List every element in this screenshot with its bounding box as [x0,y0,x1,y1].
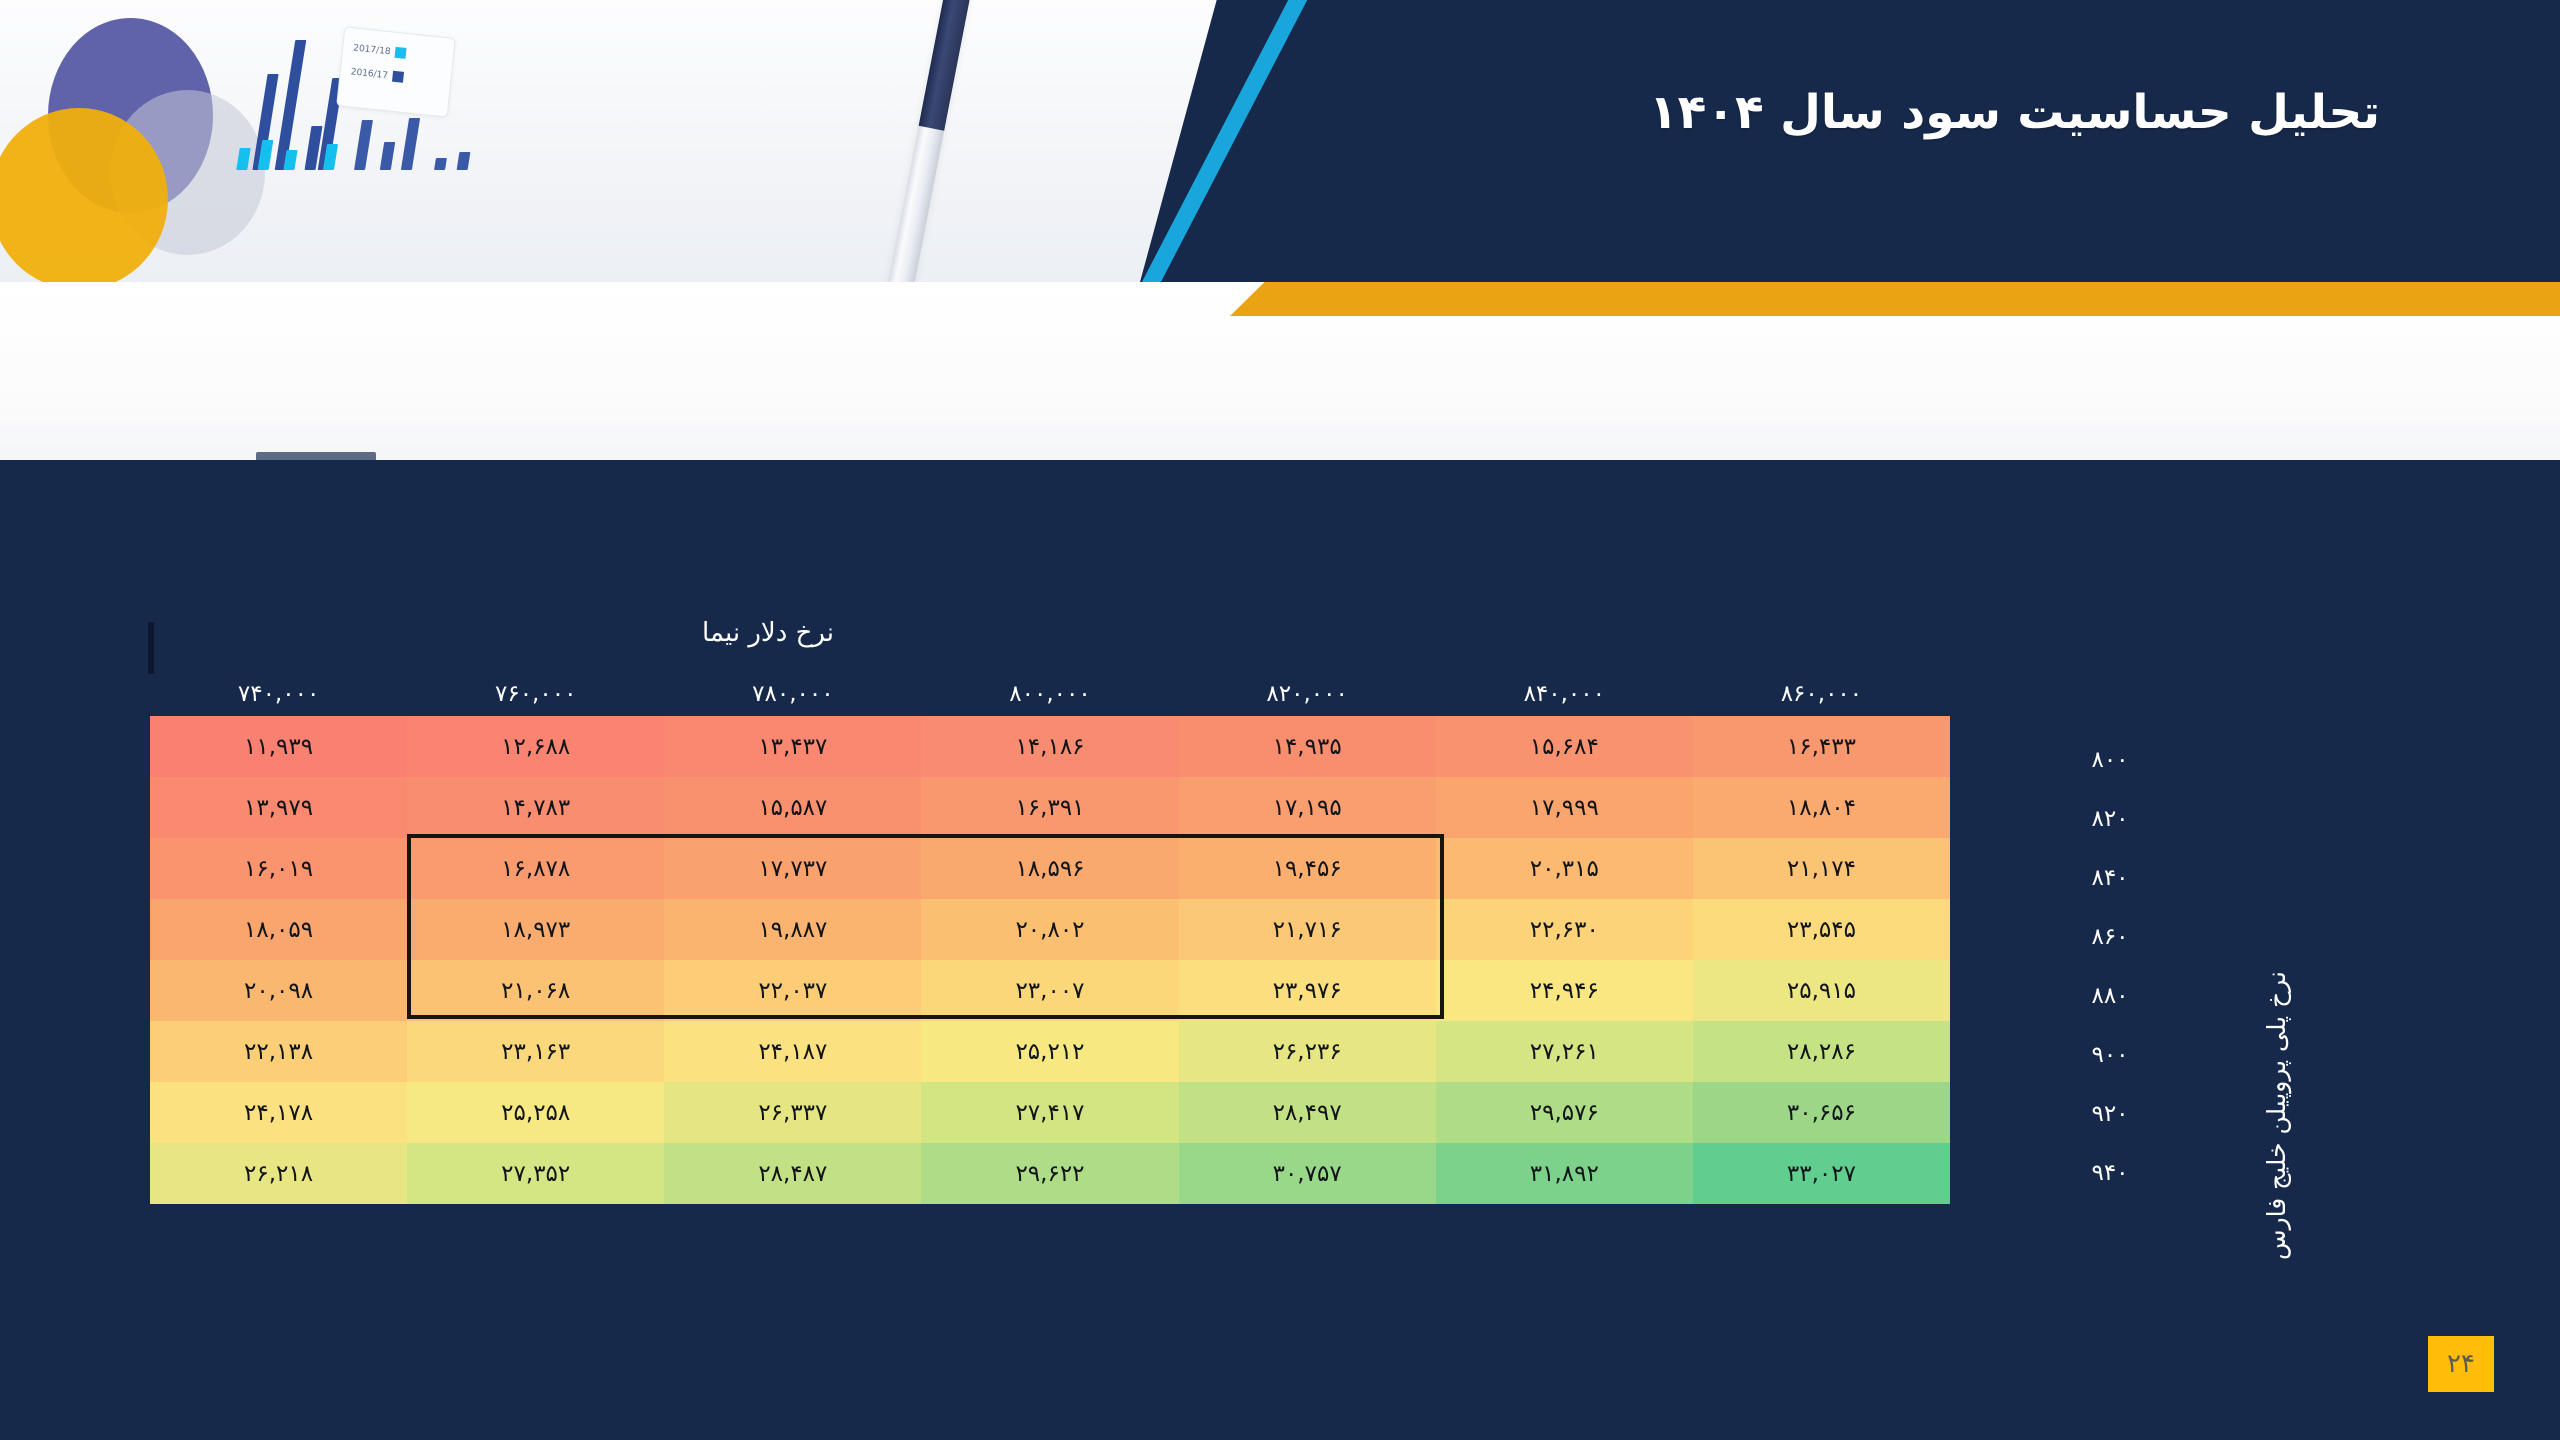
heatmap-cell: ۲۸,۴۸۷ [664,1143,921,1204]
column-header-4: ۷۸۰,۰۰۰ [664,681,921,707]
row-header-2: ۸۴۰ [2050,849,2170,908]
heatmap-cell: ۲۰,۰۹۸ [150,960,407,1021]
column-header-row: ۸۶۰,۰۰۰۸۴۰,۰۰۰۸۲۰,۰۰۰۸۰۰,۰۰۰۷۸۰,۰۰۰۷۶۰,۰… [150,672,1950,716]
heatmap-cell: ۱۴,۱۸۶ [921,716,1178,777]
table-row: ۲۸,۲۸۶۲۷,۲۶۱۲۶,۲۳۶۲۵,۲۱۲۲۴,۱۸۷۲۳,۱۶۳۲۲,۱… [150,1021,1950,1082]
heatmap-cell: ۲۷,۲۶۱ [1436,1021,1693,1082]
legend-swatch-series-2 [392,71,404,83]
heatmap-cell: ۱۹,۴۵۶ [1179,838,1436,899]
heatmap-cell: ۱۴,۷۸۳ [407,777,664,838]
legend-label-series-1: 2017/18 [353,43,391,57]
row-header-1: ۸۲۰ [2050,790,2170,849]
heatmap-cell: ۲۵,۲۱۲ [921,1021,1178,1082]
heatmap-cell: ۱۵,۵۸۷ [664,777,921,838]
heatmap-cell: ۲۲,۰۳۷ [664,960,921,1021]
header-gold-stripe [1230,282,2560,316]
heatmap-cell: ۲۵,۲۵۸ [407,1082,664,1143]
row-header-4: ۸۸۰ [2050,967,2170,1026]
heatmap-cell: ۲۶,۲۱۸ [150,1143,407,1204]
header-small-tab [256,452,376,460]
heatmap-cell: ۲۷,۴۱۷ [921,1082,1178,1143]
heatmap-cell: ۲۱,۷۱۶ [1179,899,1436,960]
heatmap-cell: ۱۸,۵۹۶ [921,838,1178,899]
slide-header: 2017/18 2016/17 تحلیل حساسیت سود سال ۱۴۰… [0,0,2560,460]
heatmap-cell: ۲۲,۶۳۰ [1436,899,1693,960]
column-header-2: ۸۲۰,۰۰۰ [1179,681,1436,707]
heatmap-cell: ۲۹,۶۲۲ [921,1143,1178,1204]
heatmap-cell: ۱۴,۹۳۵ [1179,716,1436,777]
row-header-0: ۸۰۰ [2050,731,2170,790]
row-header-7: ۹۴۰ [2050,1144,2170,1203]
heatmap-cell: ۱۶,۳۹۱ [921,777,1178,838]
legend-swatch-series-1 [395,47,407,59]
table-row: ۱۸,۸۰۴۱۷,۹۹۹۱۷,۱۹۵۱۶,۳۹۱۱۵,۵۸۷۱۴,۷۸۳۱۳,۹… [150,777,1950,838]
heatmap-cell: ۲۶,۳۳۷ [664,1082,921,1143]
table-row: ۱۶,۴۳۳۱۵,۶۸۴۱۴,۹۳۵۱۴,۱۸۶۱۳,۴۳۷۱۲,۶۸۸۱۱,۹… [150,716,1950,777]
heatmap-cell: ۱۶,۸۷۸ [407,838,664,899]
column-header-3: ۸۰۰,۰۰۰ [921,681,1178,707]
heatmap-cell: ۱۷,۱۹۵ [1179,777,1436,838]
heatmap-cell: ۲۸,۲۸۶ [1693,1021,1950,1082]
row-header-6: ۹۲۰ [2050,1085,2170,1144]
heatmap-cell: ۳۳,۰۲۷ [1693,1143,1950,1204]
heatmap-cell: ۲۳,۵۴۵ [1693,899,1950,960]
heatmap-cell: ۱۶,۴۳۳ [1693,716,1950,777]
row-header-column: ۸۰۰۸۲۰۸۴۰۸۶۰۸۸۰۹۰۰۹۲۰۹۴۰ [2050,672,2170,790]
heatmap-cell: ۱۷,۷۳۷ [664,838,921,899]
heatmap-cell: ۲۴,۱۸۷ [664,1021,921,1082]
column-header-1: ۸۴۰,۰۰۰ [1436,681,1693,707]
heatmap-cell: ۲۲,۱۳۸ [150,1021,407,1082]
chart-tooltip: 2017/18 2016/17 [336,26,456,117]
heatmap-table: ۱۶,۴۳۳۱۵,۶۸۴۱۴,۹۳۵۱۴,۱۸۶۱۳,۴۳۷۱۲,۶۸۸۱۱,۹… [150,716,1950,1204]
heatmap-cell: ۱۳,۴۳۷ [664,716,921,777]
accent-bar [148,622,154,674]
heatmap-cell: ۱۵,۶۸۴ [1436,716,1693,777]
heatmap-cell: ۲۶,۲۳۶ [1179,1021,1436,1082]
heatmap-cell: ۲۳,۰۰۷ [921,960,1178,1021]
heatmap-cell: ۲۷,۳۵۲ [407,1143,664,1204]
heatmap-cell: ۲۱,۰۶۸ [407,960,664,1021]
heatmap-cell: ۱۸,۹۷۳ [407,899,664,960]
table-row: ۲۱,۱۷۴۲۰,۳۱۵۱۹,۴۵۶۱۸,۵۹۶۱۷,۷۳۷۱۶,۸۷۸۱۶,۰… [150,838,1950,899]
heatmap-cell: ۲۹,۵۷۶ [1436,1082,1693,1143]
table-row: ۲۵,۹۱۵۲۴,۹۴۶۲۳,۹۷۶۲۳,۰۰۷۲۲,۰۳۷۲۱,۰۶۸۲۰,۰… [150,960,1950,1021]
heatmap-cell: ۲۳,۱۶۳ [407,1021,664,1082]
column-axis-title: نرخ دلار نیما [0,618,2560,648]
heatmap-cell: ۱۸,۸۰۴ [1693,777,1950,838]
heatmap-cell: ۳۰,۶۵۶ [1693,1082,1950,1143]
decorative-pen [885,0,975,282]
row-header-5: ۹۰۰ [2050,1026,2170,1085]
header-banner-photo: 2017/18 2016/17 [0,0,1300,282]
heatmap-cell: ۳۰,۷۵۷ [1179,1143,1436,1204]
legend-label-series-2: 2016/17 [350,67,388,81]
column-header-5: ۷۶۰,۰۰۰ [407,681,664,707]
column-header-6: ۷۴۰,۰۰۰ [150,681,407,707]
heatmap-cell: ۲۳,۹۷۶ [1179,960,1436,1021]
heatmap-cell: ۲۴,۱۷۸ [150,1082,407,1143]
table-row: ۲۳,۵۴۵۲۲,۶۳۰۲۱,۷۱۶۲۰,۸۰۲۱۹,۸۸۷۱۸,۹۷۳۱۸,۰… [150,899,1950,960]
column-axis-title-text: نرخ دلار نیما [702,618,834,648]
heatmap-cell: ۱۸,۰۵۹ [150,899,407,960]
heatmap-cell: ۱۷,۹۹۹ [1436,777,1693,838]
heatmap-cell: ۲۱,۱۷۴ [1693,838,1950,899]
row-header-spacer [2050,672,2170,731]
heatmap-cell: ۱۲,۶۸۸ [407,716,664,777]
heatmap-grid: ۸۶۰,۰۰۰۸۴۰,۰۰۰۸۲۰,۰۰۰۸۰۰,۰۰۰۷۸۰,۰۰۰۷۶۰,۰… [150,672,1950,1204]
row-axis-title: نرخ پلی پروپیلن خلیج فارس [2262,971,2291,1260]
heatmap-cell: ۲۴,۹۴۶ [1436,960,1693,1021]
heatmap-cell: ۱۹,۸۸۷ [664,899,921,960]
row-header-list: ۸۰۰۸۲۰۸۴۰۸۶۰۸۸۰۹۰۰۹۲۰۹۴۰ [2050,731,2170,790]
column-header-0: ۸۶۰,۰۰۰ [1693,681,1950,707]
heatmap-cell: ۲۰,۳۱۵ [1436,838,1693,899]
heatmap-cell: ۲۵,۹۱۵ [1693,960,1950,1021]
heatmap-cell: ۲۸,۴۹۷ [1179,1082,1436,1143]
heatmap-cell: ۳۱,۸۹۲ [1436,1143,1693,1204]
header-navy-panel [1140,0,2560,282]
pen-cap [919,0,976,131]
table-row: ۳۳,۰۲۷۳۱,۸۹۲۳۰,۷۵۷۲۹,۶۲۲۲۸,۴۸۷۲۷,۳۵۲۲۶,۲… [150,1143,1950,1204]
row-header-3: ۸۶۰ [2050,908,2170,967]
heatmap-cell: ۱۱,۹۳۹ [150,716,407,777]
page-number-badge: ۲۴ [2428,1336,2494,1392]
heatmap-cell: ۲۰,۸۰۲ [921,899,1178,960]
sensitivity-table-area: نرخ دلار نیما ۸۶۰,۰۰۰۸۴۰,۰۰۰۸۲۰,۰۰۰۸۰۰,۰… [0,460,2560,1440]
table-row: ۳۰,۶۵۶۲۹,۵۷۶۲۸,۴۹۷۲۷,۴۱۷۲۶,۳۳۷۲۵,۲۵۸۲۴,۱… [150,1082,1950,1143]
page-title: تحلیل حساسیت سود سال ۱۴۰۴ [1649,85,2380,140]
heatmap-cell: ۱۶,۰۱۹ [150,838,407,899]
heatmap-cell: ۱۳,۹۷۹ [150,777,407,838]
